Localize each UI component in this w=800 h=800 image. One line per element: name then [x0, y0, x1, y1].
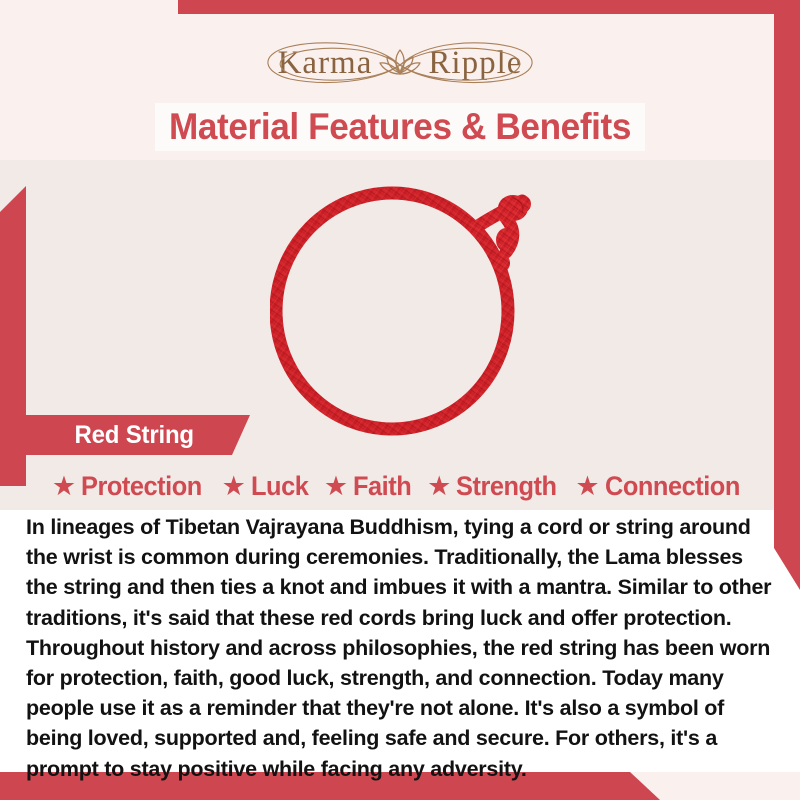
infographic-card: Karma Ripple Material Features & Benefit…: [0, 0, 800, 800]
brand-logo: Karma Ripple: [0, 34, 800, 92]
page-title: Material Features & Benefits: [20, 102, 780, 152]
section-banner-label: Red String: [74, 421, 193, 449]
brand-name-left: Karma: [278, 45, 373, 82]
benefit-label: Protection: [81, 471, 202, 502]
star-icon: ★: [222, 473, 246, 500]
benefit-label: Faith: [353, 471, 411, 502]
benefit-item-faith: ★ Faith: [324, 471, 415, 502]
star-icon: ★: [427, 473, 451, 500]
lotus-icon: [378, 45, 422, 81]
benefit-label: Luck: [251, 471, 308, 502]
benefit-item-connection: ★ Connection: [575, 471, 748, 502]
benefits-list: ★ Protection ★ Luck ★ Faith ★ Strength ★…: [0, 466, 800, 506]
star-icon: ★: [52, 473, 76, 500]
description-text: In lineages of Tibetan Vajrayana Buddhis…: [26, 512, 774, 784]
product-image-bracelet: [270, 168, 570, 440]
star-icon: ★: [324, 473, 348, 500]
benefit-item-protection: ★ Protection: [52, 471, 210, 502]
benefit-label: Strength: [456, 471, 557, 502]
star-icon: ★: [575, 473, 599, 500]
benefit-item-strength: ★ Strength: [427, 471, 563, 502]
benefit-item-luck: ★ Luck: [222, 471, 312, 502]
frame-top-bar: [178, 0, 800, 14]
brand-name-right: Ripple: [428, 45, 522, 82]
benefit-label: Connection: [605, 471, 740, 502]
